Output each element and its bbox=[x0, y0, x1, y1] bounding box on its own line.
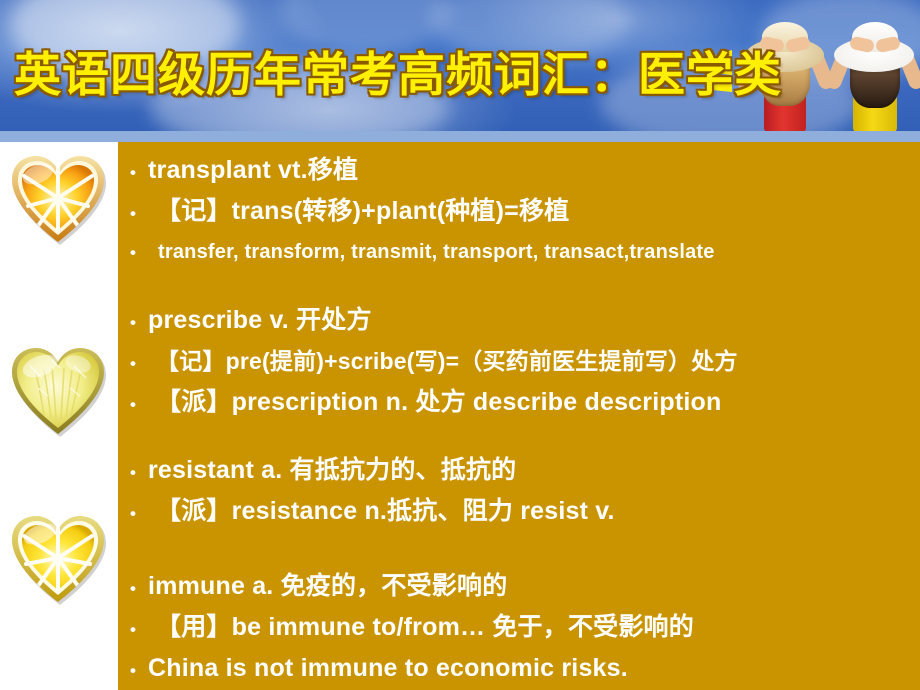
heart-lemon-slice-icon bbox=[8, 512, 108, 608]
list-item-text: 【用】be immune to/from… 免于，不受影响的 bbox=[148, 607, 694, 648]
bullet-icon: • bbox=[118, 302, 148, 343]
vocab-block-prescribe: • prescribe v. 开处方 • 【记】pre(提前)+scribe(写… bbox=[118, 300, 920, 423]
heart-lemon-pale-icon bbox=[8, 344, 108, 440]
bullet-icon: • bbox=[118, 152, 148, 193]
list-item-text: resistant a. 有抵抗力的、抵抗的 bbox=[148, 450, 516, 491]
list-item: • 【记】pre(提前)+scribe(写)=（买药前医生提前写）处方 bbox=[118, 341, 920, 382]
bullet-icon: • bbox=[118, 384, 148, 425]
list-item-text: 【记】trans(转移)+plant(种植)=移植 bbox=[148, 191, 569, 232]
list-item: • 【记】trans(转移)+plant(种植)=移植 bbox=[118, 191, 920, 232]
vocab-block-transplant: • transplant vt.移植 • 【记】trans(转移)+plant(… bbox=[118, 150, 920, 273]
list-item-text: transfer, transform, transmit, transport… bbox=[148, 232, 715, 273]
list-item-text: transplant vt.移植 bbox=[148, 150, 358, 191]
list-item-text: prescribe v. 开处方 bbox=[148, 300, 372, 341]
bullet-icon: • bbox=[118, 193, 148, 234]
bullet-icon: • bbox=[118, 568, 148, 609]
list-item: • immune a. 免疫的，不受影响的 bbox=[118, 566, 920, 607]
list-item-text: immune a. 免疫的，不受影响的 bbox=[148, 566, 507, 607]
body-area: • transplant vt.移植 • 【记】trans(转移)+plant(… bbox=[0, 142, 920, 690]
header-separator-strip bbox=[0, 131, 920, 142]
bullet-icon: • bbox=[118, 650, 148, 690]
woman-yellow-figure bbox=[834, 10, 916, 132]
content-panel: • transplant vt.移植 • 【记】trans(转移)+plant(… bbox=[118, 142, 920, 690]
bullet-icon: • bbox=[118, 232, 148, 273]
vocab-block-resistant: • resistant a. 有抵抗力的、抵抗的 • 【派】resistance… bbox=[118, 450, 920, 532]
sidebar-decorations bbox=[0, 142, 118, 690]
list-item: • 【用】be immune to/from… 免于，不受影响的 bbox=[118, 607, 920, 648]
list-item: • China is not immune to economic risks. bbox=[118, 648, 920, 689]
list-item: • transfer, transform, transmit, transpo… bbox=[118, 232, 920, 273]
list-item-text: 【派】resistance n.抵抗、阻力 resist v. bbox=[148, 491, 615, 532]
vocab-block-immune: • immune a. 免疫的，不受影响的 • 【用】be immune to/… bbox=[118, 566, 920, 689]
list-item: • transplant vt.移植 bbox=[118, 150, 920, 191]
list-item: • resistant a. 有抵抗力的、抵抗的 bbox=[118, 450, 920, 491]
page-title: 英语四级历年常考高频词汇：医学类 bbox=[14, 36, 782, 105]
bullet-icon: • bbox=[118, 343, 148, 384]
list-item-text: 【记】pre(提前)+scribe(写)=（买药前医生提前写）处方 bbox=[148, 341, 738, 382]
list-item: • 【派】resistance n.抵抗、阻力 resist v. bbox=[118, 491, 920, 532]
list-item-text: 【派】prescription n. 处方 describe descripti… bbox=[148, 382, 721, 423]
list-item: • 【派】prescription n. 处方 describe descrip… bbox=[118, 382, 920, 423]
list-item: • prescribe v. 开处方 bbox=[118, 300, 920, 341]
slide: 英语四级历年常考高频词汇：医学类 bbox=[0, 0, 920, 690]
bullet-icon: • bbox=[118, 493, 148, 534]
heart-orange-slice-icon bbox=[8, 152, 108, 248]
bullet-icon: • bbox=[118, 609, 148, 650]
header-banner: 英语四级历年常考高频词汇：医学类 bbox=[0, 0, 920, 132]
bullet-icon: • bbox=[118, 452, 148, 493]
list-item-text: China is not immune to economic risks. bbox=[148, 648, 628, 689]
